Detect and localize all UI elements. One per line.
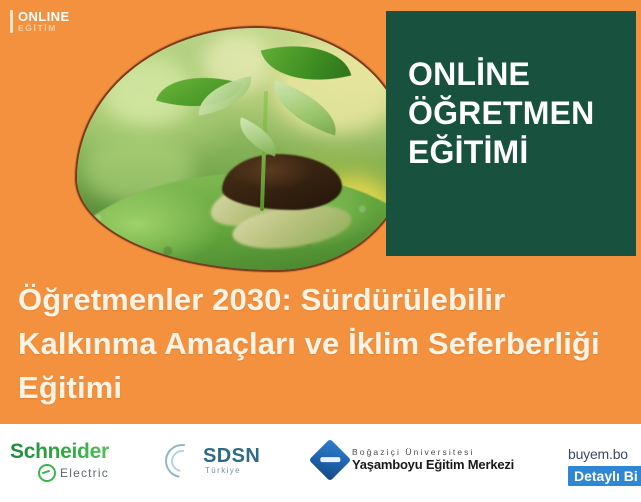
logo-schneider-electric: Schneider Electric bbox=[10, 441, 150, 483]
soil-mound bbox=[222, 154, 342, 210]
schneider-mark-icon bbox=[38, 464, 56, 482]
sdsn-name: SDSN bbox=[203, 446, 260, 467]
buyem-url[interactable]: buyem.bo bbox=[568, 446, 641, 462]
seedling-photo-background bbox=[77, 28, 407, 270]
page-title: Öğretmenler 2030: Sürdürülebilir Kalkınm… bbox=[18, 278, 618, 410]
schneider-subtitle-row: Electric bbox=[38, 464, 150, 482]
brand-logo-text: ONLINE EĞİTİM bbox=[18, 10, 70, 33]
brand-logo-bar bbox=[10, 10, 13, 33]
promotional-poster: ONLINE EĞİTİM ONLİNE ÖĞRETMEN EĞ bbox=[0, 0, 641, 502]
brand-logo-line1: ONLINE bbox=[18, 10, 70, 24]
diamond-icon bbox=[309, 439, 351, 481]
detayli-bilgi-button[interactable]: Detaylı Bi bbox=[568, 466, 641, 486]
green-panel-title: ONLİNE ÖĞRETMEN EĞİTİMİ bbox=[408, 55, 628, 172]
footer-logo-bar: Schneider Electric SDSN Türkiye Boğaziçi… bbox=[0, 424, 641, 502]
bogazici-center-line: Yaşamboyu Eğitim Merkezi bbox=[352, 458, 514, 472]
seedling-photo bbox=[75, 26, 409, 272]
brand-logo: ONLINE EĞİTİM bbox=[10, 10, 70, 33]
leaf-icon-center bbox=[233, 117, 285, 156]
globe-swirl-icon bbox=[158, 437, 205, 484]
schneider-subtitle: Electric bbox=[60, 466, 109, 480]
schneider-name: Schneider bbox=[10, 441, 150, 462]
bogazici-words: Boğaziçi Üniversitesi Yaşamboyu Eğitim M… bbox=[352, 448, 514, 472]
brand-logo-line2: EĞİTİM bbox=[18, 24, 70, 33]
sdsn-subtitle: Türkiye bbox=[205, 467, 260, 475]
logo-bogazici-buyem: Boğaziçi Üniversitesi Yaşamboyu Eğitim M… bbox=[315, 445, 514, 475]
sdsn-words: SDSN Türkiye bbox=[203, 446, 260, 475]
buyem-link-block[interactable]: buyem.bo Detaylı Bi bbox=[568, 446, 641, 486]
green-title-panel: ONLİNE ÖĞRETMEN EĞİTİMİ bbox=[386, 11, 636, 256]
logo-sdsn-turkiye: SDSN Türkiye bbox=[165, 444, 260, 478]
